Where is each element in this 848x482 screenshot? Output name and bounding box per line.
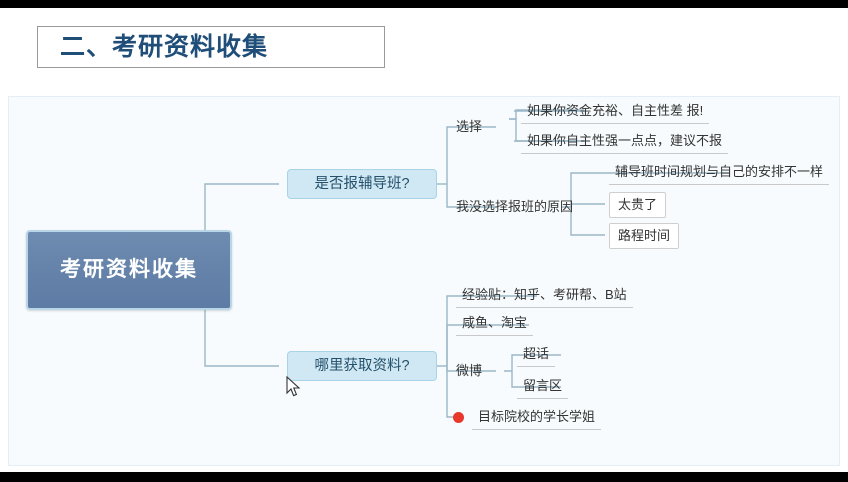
mindmap-leaf-funds[interactable]: 如果你资金充裕、自主性差 报! [521,100,709,124]
mindmap-leaf-too-expensive[interactable]: 太贵了 [609,192,666,218]
letterbox-top-bar [0,0,848,8]
mindmap-branch-1[interactable]: 是否报辅导班? [287,169,437,199]
mindmap-node-xuanze[interactable]: 选择 [456,117,482,137]
mindmap-node-weibo[interactable]: 微博 [456,361,482,381]
mindmap-branch-2[interactable]: 哪里获取资料? [287,351,437,381]
mindmap-leaf-travel-time[interactable]: 路程时间 [609,223,679,249]
page-title: 二、考研资料收集 [60,28,268,66]
mindmap-root-node[interactable]: 考研资料收集 [26,230,232,310]
screenshot-stage: 二、考研资料收集 [0,0,848,482]
mindmap-leaf-experience-posts[interactable]: 经验贴：知乎、考研帮、B站 [456,284,633,308]
mindmap-leaf-super-topic[interactable]: 超话 [517,343,555,367]
letterbox-bottom-bar [0,472,848,482]
mindmap-leaf-comment-area[interactable]: 留言区 [517,375,568,399]
mindmap-leaf-xianyu-taobao[interactable]: 咸鱼、淘宝 [456,312,533,336]
red-dot-icon [453,412,464,423]
mindmap-node-no-class-reason[interactable]: 我没选择报班的原因 [456,197,573,217]
mindmap-canvas: 考研资料收集 是否报辅导班? 哪里获取资料? 选择 我没选择报班的原因 如果你资… [8,96,840,466]
mindmap-leaf-seniors[interactable]: 目标院校的学长学姐 [472,406,601,430]
mindmap-leaf-self-discipline[interactable]: 如果你自主性强一点点，建议不报 [521,130,728,154]
mindmap-leaf-schedule-conflict[interactable]: 辅导班时间规划与自己的安排不一样 [609,161,829,185]
